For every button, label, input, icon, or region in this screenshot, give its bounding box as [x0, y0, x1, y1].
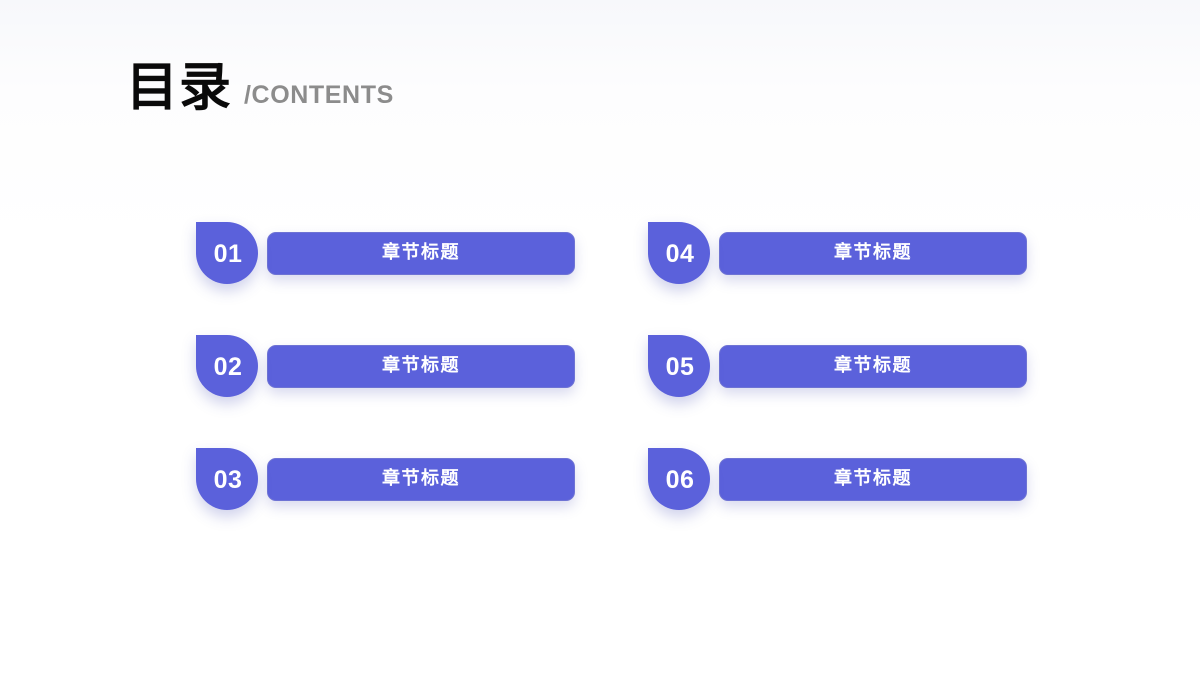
toc-title-bar-02[interactable]: 章节标题: [267, 345, 575, 388]
toc-title-bar-01[interactable]: 章节标题: [267, 232, 575, 275]
toc-number-badge-02[interactable]: 02: [196, 335, 258, 397]
toc-column-left: 01 章节标题 02 章节标题 03 章节标题: [196, 216, 575, 516]
toc-title-bar-05[interactable]: 章节标题: [719, 345, 1027, 388]
toc-title-label: 章节标题: [834, 470, 912, 488]
toc-number-label: 05: [666, 355, 695, 380]
toc-entry-01[interactable]: 01 章节标题: [196, 216, 575, 290]
toc-entry-03[interactable]: 03 章节标题: [196, 442, 575, 516]
toc-number-badge-01[interactable]: 01: [196, 222, 258, 284]
toc-number-label: 01: [214, 242, 243, 267]
toc-number-badge-05[interactable]: 05: [648, 335, 710, 397]
toc-entry-05[interactable]: 05 章节标题: [648, 329, 1027, 403]
toc-title-bar-04[interactable]: 章节标题: [719, 232, 1027, 275]
toc-number-badge-06[interactable]: 06: [648, 448, 710, 510]
toc-title-bar-06[interactable]: 章节标题: [719, 458, 1027, 501]
toc-number-label: 02: [214, 355, 243, 380]
toc-number-badge-04[interactable]: 04: [648, 222, 710, 284]
toc-entry-06[interactable]: 06 章节标题: [648, 442, 1027, 516]
toc-entry-04[interactable]: 04 章节标题: [648, 216, 1027, 290]
toc-title-label: 章节标题: [382, 470, 460, 488]
toc-title-label: 章节标题: [834, 357, 912, 375]
toc-number-badge-03[interactable]: 03: [196, 448, 258, 510]
toc-number-label: 03: [214, 468, 243, 493]
page-title-en: /CONTENTS: [244, 83, 394, 108]
page-title: 目录 /CONTENTS: [126, 62, 394, 114]
toc-column-right: 04 章节标题 05 章节标题 06 章节标题: [648, 216, 1027, 516]
toc-title-bar-03[interactable]: 章节标题: [267, 458, 575, 501]
page-title-cn: 目录: [126, 62, 232, 114]
slide-canvas: 目录 /CONTENTS 01 章节标题 02 章节标题: [0, 0, 1200, 675]
toc-title-label: 章节标题: [382, 244, 460, 262]
toc-number-label: 06: [666, 468, 695, 493]
toc-entry-02[interactable]: 02 章节标题: [196, 329, 575, 403]
toc-title-label: 章节标题: [834, 244, 912, 262]
toc-title-label: 章节标题: [382, 357, 460, 375]
toc-number-label: 04: [666, 242, 695, 267]
